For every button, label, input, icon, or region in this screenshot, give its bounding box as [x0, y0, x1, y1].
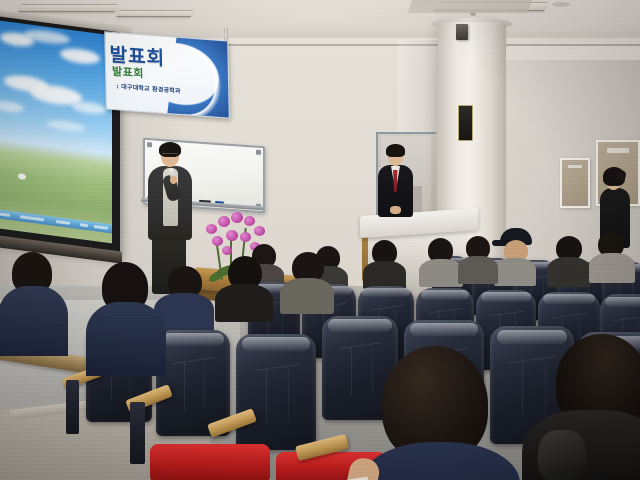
projected-hill-highlight	[18, 173, 26, 180]
banner-subline: 발표회	[112, 63, 144, 81]
suited-man-hair	[386, 144, 405, 157]
ceiling-smoke-detector	[552, 2, 570, 7]
bulletin-board	[560, 158, 590, 208]
recessed-fluorescent-light	[18, 4, 117, 12]
jacket	[86, 302, 166, 376]
suited-man-hands	[390, 206, 401, 214]
bulletin-board-label	[607, 148, 629, 153]
recessed-fluorescent-light	[117, 10, 194, 17]
auditorium-seat	[236, 334, 316, 450]
projected-taskbar	[0, 209, 112, 234]
presenter-hand	[170, 176, 177, 184]
bulletin-board-label	[568, 165, 583, 169]
seat-armrest-post	[66, 380, 79, 434]
auditorium-photo: 발표회 발표회 : 대구대학교 환경공학과	[0, 0, 640, 480]
ceiling-smoke-detector	[470, 12, 476, 16]
event-banner: 발표회 발표회 : 대구대학교 환경공학과	[104, 31, 230, 118]
whiteboard-marker	[199, 200, 211, 203]
jacket	[0, 286, 68, 356]
glasses-icon	[162, 153, 178, 158]
whiteboard-marker	[215, 201, 224, 204]
standing-woman-hair-bun	[616, 170, 626, 180]
projection-screen	[0, 16, 120, 259]
ceiling-vent	[408, 0, 533, 13]
speaker-icon	[458, 105, 473, 141]
banner-swoosh-highlight	[183, 41, 230, 119]
seat-cushion	[150, 444, 270, 480]
projected-desktop-wallpaper	[0, 20, 112, 244]
speaker-icon	[456, 24, 468, 40]
seat-armrest-post	[130, 402, 145, 464]
jacket-highlight	[538, 430, 586, 480]
